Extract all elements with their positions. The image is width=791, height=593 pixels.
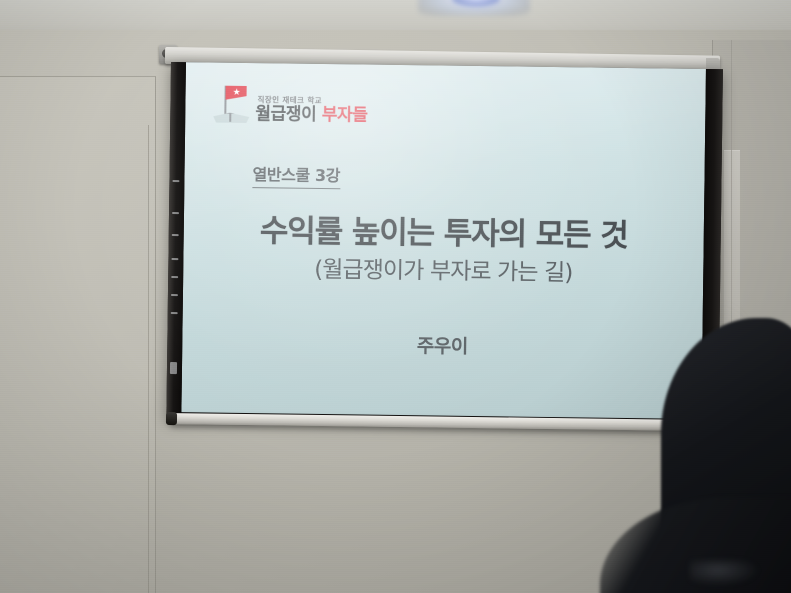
wall-panel-left — [0, 76, 156, 593]
brand-name: 월급쟁이 부자들 — [255, 106, 367, 124]
presentation-slide: ★ 직장인 재테크 학교 월급쟁이 부자들 열반스쿨 3강 수익률 높이는 투자… — [181, 62, 706, 419]
screen-edge-reflection — [171, 258, 178, 260]
brand-logo: ★ 직장인 재테크 학교 월급쟁이 부자들 — [213, 84, 368, 126]
screen-edge-reflection — [172, 212, 179, 214]
brand-name-accent: 부자들 — [322, 105, 368, 126]
projection-screen[interactable]: ★ 직장인 재테크 학교 월급쟁이 부자들 열반스쿨 3강 수익률 높이는 투자… — [166, 62, 723, 426]
foreground-person-highlight — [690, 560, 760, 586]
flag-base-icon — [213, 113, 249, 123]
screenshot-root: ★ 직장인 재테크 학교 월급쟁이 부자들 열반스쿨 3강 수익률 높이는 투자… — [0, 0, 791, 593]
wall-seam-left — [148, 125, 149, 593]
screen-edge-reflection — [171, 276, 178, 278]
brand-logo-text: 직장인 재테크 학교 월급쟁이 부자들 — [255, 94, 368, 125]
weight-bar-cap-left — [166, 412, 177, 425]
screen-edge-reflection — [171, 294, 178, 296]
screen-surface: ★ 직장인 재테크 학교 월급쟁이 부자들 열반스쿨 3강 수익률 높이는 투자… — [181, 62, 706, 419]
screen-edge-reflection — [172, 234, 179, 236]
slide-subtitle: (월급쟁이가 부자로 가는 길) — [183, 248, 703, 289]
brand-tagline: 직장인 재테크 학교 — [257, 94, 367, 106]
slide-presenter-name: 주우이 — [182, 328, 702, 362]
flag-base-line-icon — [229, 114, 231, 122]
screen-edge-reflection — [172, 180, 179, 182]
screen-edge-reflection — [171, 312, 178, 314]
flag-icon: ★ — [213, 84, 250, 124]
star-icon: ★ — [233, 88, 241, 97]
brand-name-primary: 월급쟁이 — [255, 104, 322, 125]
slide-eyebrow: 열반스쿨 3강 — [252, 161, 340, 189]
screen-edge-reflection — [170, 362, 177, 374]
